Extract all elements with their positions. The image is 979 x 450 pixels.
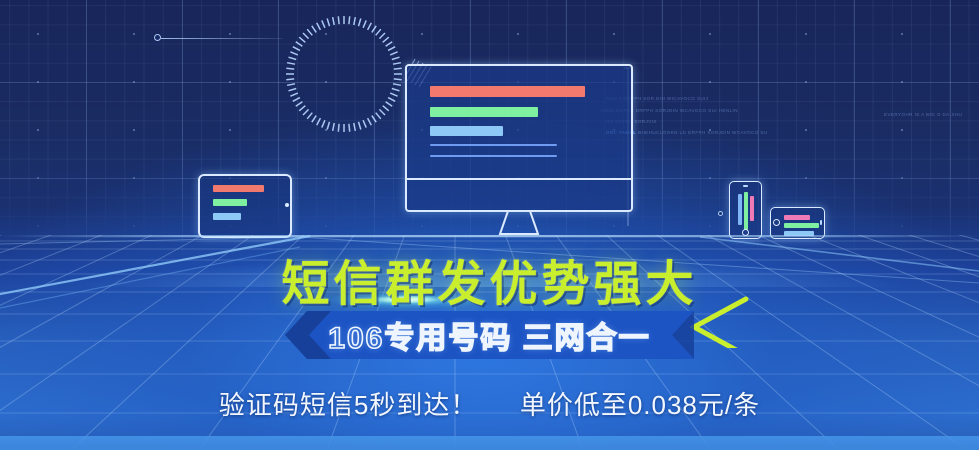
tablet-home-button-icon <box>285 203 289 207</box>
connector-line <box>161 38 283 39</box>
ribbon-banner: 106专用号码 三网合一 <box>285 311 694 359</box>
phone-portrait <box>729 181 762 239</box>
monitor-bar-4 <box>430 144 557 146</box>
desktop-monitor <box>405 64 633 212</box>
radial-dial-icon <box>283 13 405 135</box>
phone-landscape-speaker-icon <box>820 220 822 225</box>
connector-node-icon <box>154 34 161 41</box>
tablet-bar-2 <box>213 199 247 206</box>
decor-corner-text: EVERYOHR IS A BIG O DA.SHU <box>884 112 962 117</box>
monitor-bar-3 <box>430 126 503 136</box>
phone-portrait-bar-2 <box>744 192 748 230</box>
sms-promo-banner: NUH A ORFPH SOR.DIN WICAVOCO SUIJ HMQLHO… <box>0 0 979 450</box>
tablet-frame <box>198 174 292 238</box>
decor-text-line: BHEHUCLOOKN LD DRFPH SORJDIN WCAVOCO SU <box>638 130 768 135</box>
tablet-device <box>198 174 292 238</box>
tablet-bar-3 <box>213 213 241 220</box>
tagline-left: 验证码短信5秒到达！ <box>219 390 477 420</box>
phone-landscape-home-icon <box>773 219 780 226</box>
monitor-bar-5 <box>430 155 557 157</box>
monitor-bezel-divider <box>407 178 631 180</box>
phone-speaker-icon <box>743 185 748 187</box>
floor-bottom-band <box>0 436 979 450</box>
ribbon-label: 106专用号码 三网合一 <box>285 311 694 359</box>
monitor-stand <box>488 210 550 236</box>
phone-portrait-bar-3 <box>750 196 754 221</box>
monitor-bar-2 <box>430 107 538 117</box>
phone-landscape-bar-2 <box>784 223 819 228</box>
connector-node-icon <box>718 211 723 216</box>
tagline: 验证码短信5秒到达！ 单价低至0.038元/条 <box>0 385 979 422</box>
phone-portrait-bar-1 <box>738 194 742 225</box>
tablet-bar-1 <box>213 185 264 192</box>
page-title: 短信群发优势强大 <box>0 244 979 314</box>
monitor-bar-1 <box>430 86 585 97</box>
phone-landscape-bar-1 <box>784 215 810 220</box>
tagline-right: 单价低至0.038元/条 <box>520 390 760 420</box>
